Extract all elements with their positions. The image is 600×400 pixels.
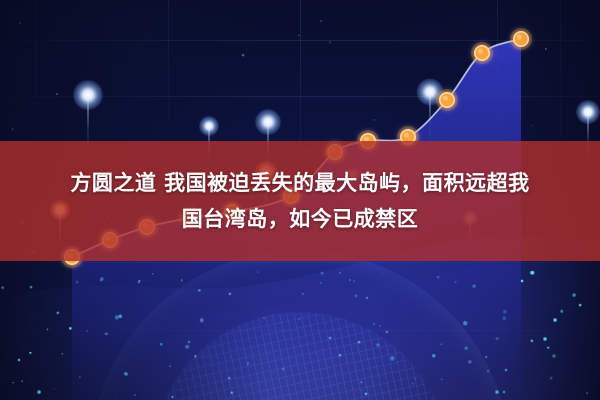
banner-image: 方圆之道 我国被迫丢失的最大岛屿，面积远超我 国台湾岛，如今已成禁区 — [0, 0, 600, 400]
vignette-overlay — [0, 0, 600, 400]
